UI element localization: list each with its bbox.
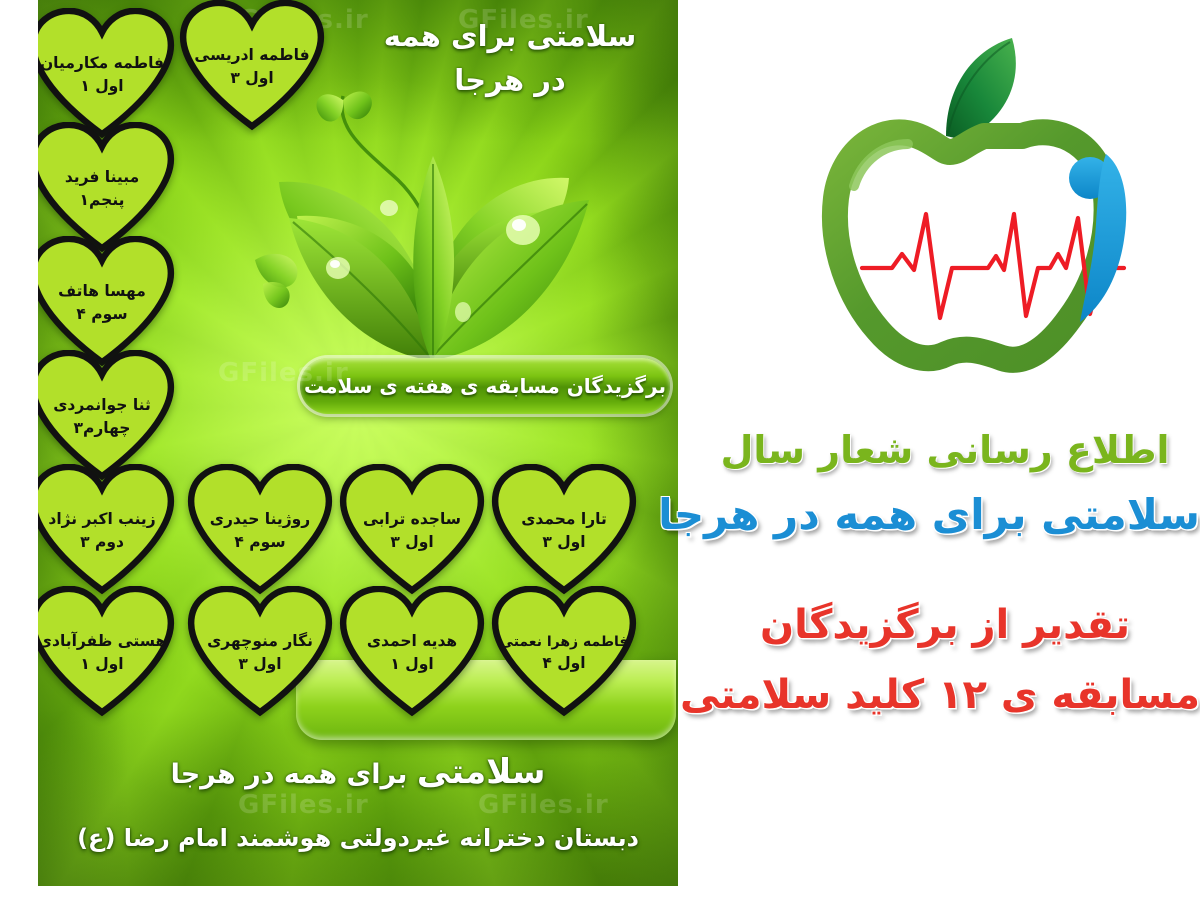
watermark: GFiles.ir [238, 790, 369, 820]
winner-heart-text: فاطمه ادریسی اول ۳ [194, 43, 309, 89]
poster-footer-slogan: سلامتی برای همه در هرجا [38, 752, 678, 792]
health-week-poster: سلامتی برای همه در هرجا برگزیدگان مسابقه… [38, 0, 678, 886]
winner-name: روژینا حیدری [210, 511, 310, 529]
winner-name: فاطمه زهرا نعمتی [500, 634, 629, 650]
winner-heart-text: تارا محمدی اول ۳ [521, 507, 607, 553]
info-line-red-1: تقدیر از برگزیدگان [690, 602, 1200, 648]
winner-heart-text: مبینا فرید پنجم۱ [65, 165, 139, 211]
winner-heart: ساجده ترابی اول ۳ [338, 464, 486, 596]
apple-health-logo-icon [750, 18, 1130, 408]
poster-footer-school: دبستان دخترانه غیردولتی هوشمند امام رضا … [38, 824, 678, 852]
winner-heart: روژینا حیدری سوم ۴ [186, 464, 334, 596]
winner-heart-text: فاطمه زهرا نعمتی اول ۴ [500, 630, 629, 674]
winner-grade: پنجم۱ [65, 190, 139, 211]
winner-grade: اول ۳ [207, 654, 313, 675]
winner-grade: اول ۳ [363, 532, 461, 553]
winner-heart-text: روژینا حیدری سوم ۴ [210, 507, 310, 553]
poster-headline-line1: سلامتی برای همه [360, 14, 660, 58]
info-line-green: اطلاع رسانی شعار سال [690, 428, 1200, 472]
winner-heart: هدیه احمدی اول ۱ [338, 586, 486, 718]
winner-heart: مهسا هاتف سوم ۴ [38, 236, 176, 368]
winner-grade: اول ۳ [521, 532, 607, 553]
winner-heart: ثنا جوانمردی چهارم۳ [38, 350, 176, 482]
info-line-red-2: مسابقه ی ۱۲ کلید سلامتی [690, 672, 1200, 718]
info-line-blue: سلامتی برای همه در هرجا [690, 490, 1200, 539]
winner-heart-text: فاطمه مکارمیان اول ۱ [40, 51, 164, 97]
winner-heart: فاطمه مکارمیان اول ۱ [38, 8, 176, 140]
poster-footer-slogan-strong: سلامتی [417, 752, 546, 792]
winner-heart: فاطمه زهرا نعمتی اول ۴ [490, 586, 638, 718]
winner-name: هستی ظفرآبادی [38, 633, 166, 651]
right-info-panel: اطلاع رسانی شعار سال سلامتی برای همه در … [690, 0, 1200, 900]
winner-heart: زینب اکبر نژاد دوم ۳ [38, 464, 176, 596]
competition-banner: برگزیدگان مسابقه ی هفته ی سلامت [300, 358, 670, 414]
winner-heart-text: ثنا جوانمردی چهارم۳ [53, 393, 151, 439]
winner-name: فاطمه مکارمیان [40, 55, 164, 73]
winner-name: مهسا هاتف [58, 283, 146, 301]
winner-name: هدیه احمدی [367, 633, 457, 651]
winner-grade: سوم ۴ [210, 532, 310, 553]
winner-heart-text: نگار منوچهری اول ۳ [207, 629, 313, 675]
watermark: GFiles.ir [478, 790, 609, 820]
poster-headline: سلامتی برای همه در هرجا [360, 14, 660, 102]
winner-heart-text: هستی ظفرآبادی اول ۱ [38, 629, 166, 675]
winner-heart: نگار منوچهری اول ۳ [186, 586, 334, 718]
poster-page: سلامتی برای همه در هرجا برگزیدگان مسابقه… [0, 0, 1200, 900]
winner-heart-text: ساجده ترابی اول ۳ [363, 507, 461, 553]
poster-footer-slogan-rest: برای همه در هرجا [171, 759, 417, 790]
winner-heart: هستی ظفرآبادی اول ۱ [38, 586, 176, 718]
winner-heart: فاطمه ادریسی اول ۳ [178, 0, 326, 132]
winner-name: زینب اکبر نژاد [48, 511, 155, 529]
winner-name: ثنا جوانمردی [53, 397, 151, 415]
competition-banner-label: برگزیدگان مسابقه ی هفته ی سلامت [304, 374, 666, 398]
winner-heart: تارا محمدی اول ۳ [490, 464, 638, 596]
winner-grade: دوم ۳ [48, 532, 155, 553]
winner-name: نگار منوچهری [207, 633, 313, 651]
winner-name: فاطمه ادریسی [194, 47, 309, 65]
winner-grade: سوم ۴ [58, 304, 146, 325]
winner-grade: اول ۱ [367, 654, 457, 675]
winner-name: مبینا فرید [65, 169, 139, 187]
winner-grade: اول ۳ [194, 68, 309, 89]
winner-name: ساجده ترابی [363, 511, 461, 529]
winner-heart: مبینا فرید پنجم۱ [38, 122, 176, 254]
winner-grade: اول ۱ [38, 654, 166, 675]
winner-grade: چهارم۳ [53, 418, 151, 439]
winner-grade: اول ۴ [500, 653, 629, 674]
winner-grade: اول ۱ [40, 76, 164, 97]
winner-name: تارا محمدی [521, 511, 607, 529]
winner-heart-text: هدیه احمدی اول ۱ [367, 629, 457, 675]
poster-headline-line2: در هرجا [360, 58, 660, 102]
winner-heart-text: زینب اکبر نژاد دوم ۳ [48, 507, 155, 553]
winner-heart-text: مهسا هاتف سوم ۴ [58, 279, 146, 325]
